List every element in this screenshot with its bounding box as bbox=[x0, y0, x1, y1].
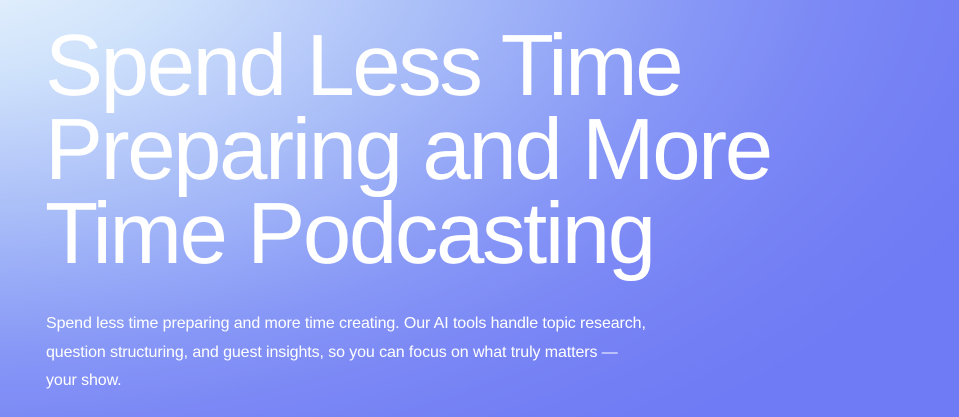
page-title: Spend Less Time Preparing and More Time … bbox=[45, 24, 940, 276]
hero-content: Spend Less Time Preparing and More Time … bbox=[45, 0, 945, 417]
hero-description: Spend less time preparing and more time … bbox=[46, 310, 646, 396]
hero-section: Spend Less Time Preparing and More Time … bbox=[0, 0, 959, 417]
